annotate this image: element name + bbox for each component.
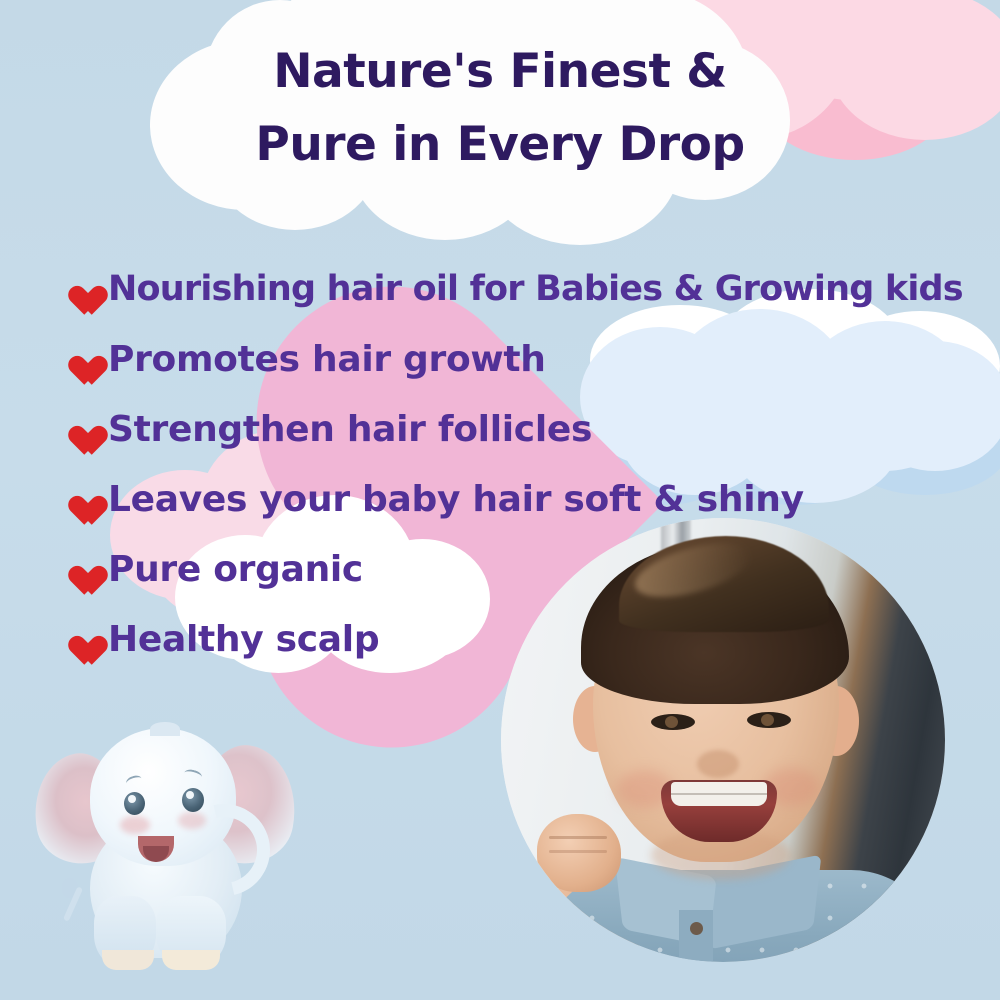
heart-bullet-icon bbox=[62, 344, 96, 375]
elephant-eye-right bbox=[182, 788, 204, 812]
headline: Nature's Finest & Pure in Every Drop bbox=[0, 36, 1000, 182]
baby-eye-left bbox=[651, 714, 695, 730]
heart-bullet-icon bbox=[62, 274, 96, 305]
elephant-foot-left bbox=[102, 950, 154, 970]
elephant-foot-right bbox=[162, 950, 220, 970]
elephant-mascot-icon bbox=[28, 700, 308, 980]
feature-item-label: Strengthen hair follicles bbox=[108, 409, 592, 450]
feature-item: Promotes hair growth bbox=[62, 328, 1000, 390]
heart-bullet-icon bbox=[62, 414, 96, 445]
headline-line-1: Nature's Finest & bbox=[273, 44, 727, 99]
feature-item: Strengthen hair follicles bbox=[62, 398, 1000, 460]
feature-item-label: Leaves your baby hair soft & shiny bbox=[108, 479, 804, 520]
headline-line-2: Pure in Every Drop bbox=[0, 109, 1000, 182]
feature-item-label: Pure organic bbox=[108, 549, 363, 590]
elephant-eye-left bbox=[124, 792, 145, 815]
feature-item-label: Healthy scalp bbox=[108, 619, 379, 660]
feature-item: Nourishing hair oil for Babies & Growing… bbox=[62, 258, 1000, 320]
product-feature-poster: Nature's Finest & Pure in Every Drop Nou… bbox=[0, 0, 1000, 1000]
baby-shirt-placket bbox=[679, 910, 713, 962]
heart-bullet-icon bbox=[62, 624, 96, 655]
heart-bullet-icon bbox=[62, 484, 96, 515]
baby-photo bbox=[501, 518, 945, 962]
baby-fist bbox=[537, 814, 621, 892]
feature-item-label: Promotes hair growth bbox=[108, 339, 546, 380]
baby-shirt-button bbox=[690, 922, 703, 935]
elephant-cheek-left bbox=[120, 816, 150, 834]
feature-item-label: Nourishing hair oil for Babies & Growing… bbox=[108, 269, 963, 309]
baby-eye-right bbox=[747, 712, 791, 728]
baby-nose bbox=[697, 750, 739, 778]
baby-teeth bbox=[671, 782, 767, 806]
heart-bullet-icon bbox=[62, 554, 96, 585]
elephant-head-tuft bbox=[150, 722, 180, 736]
